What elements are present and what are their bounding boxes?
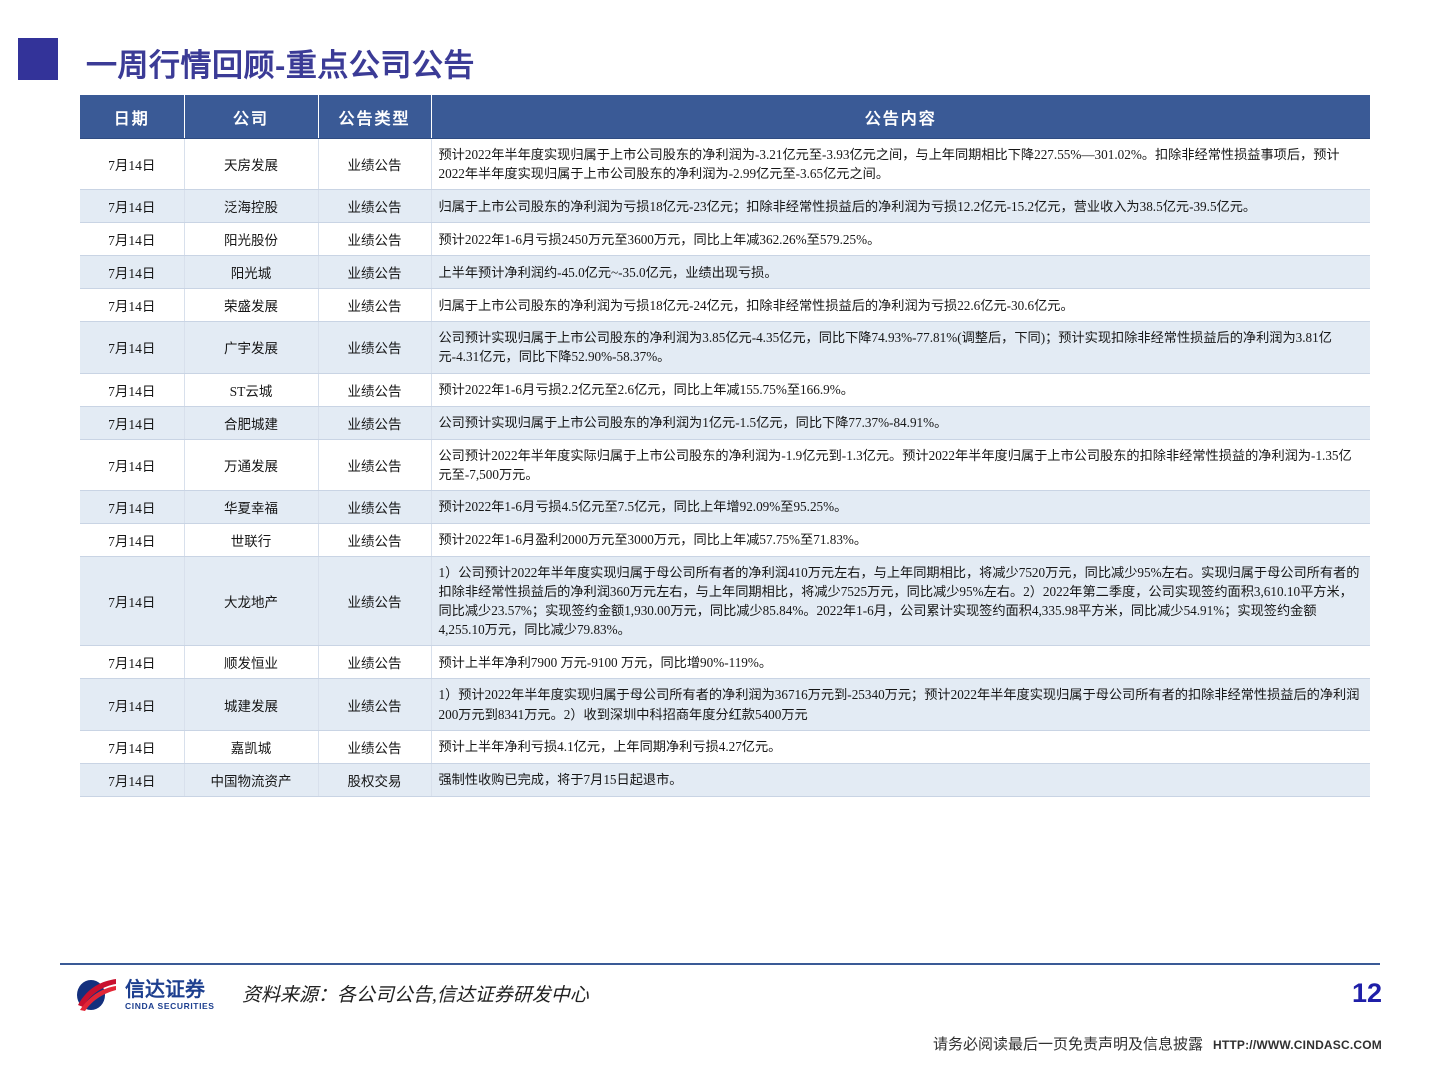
row-cell-content: 归属于上市公司股东的净利润为亏损18亿元-24亿元，扣除非经常性损益后的净利润为… <box>431 289 1370 322</box>
title-accent-square <box>18 38 58 80</box>
row-cell-type: 业绩公告 <box>318 490 431 523</box>
logo-text-en: CINDA SECURITIES <box>125 1002 215 1011</box>
table-row: 7月14日中国物流资产股权交易强制性收购已完成，将于7月15日起退市。 <box>80 763 1370 796</box>
row-cell-date: 7月14日 <box>80 490 184 523</box>
row-cell-type: 业绩公告 <box>318 373 431 406</box>
column-header-type: 公告类型 <box>318 95 431 139</box>
page-title: 一周行情回顾-重点公司公告 <box>86 40 475 85</box>
row-cell-date: 7月14日 <box>80 322 184 373</box>
table-row: 7月14日城建发展业绩公告1）预计2022年半年度实现归属于母公司所有者的净利润… <box>80 679 1370 730</box>
row-cell-date: 7月14日 <box>80 523 184 556</box>
row-cell-company: ST云城 <box>184 373 318 406</box>
row-cell-type: 业绩公告 <box>318 223 431 256</box>
source-note: 资料来源：各公司公告,信达证券研发中心 <box>242 980 589 1007</box>
footer-disclaimer: 请务必阅读最后一页免责声明及信息披露 HTTP://WWW.CINDASC.CO… <box>933 1033 1382 1054</box>
row-cell-type: 业绩公告 <box>318 406 431 439</box>
table-header: 日期 公司 公告类型 公告内容 <box>80 95 1370 139</box>
row-cell-date: 7月14日 <box>80 139 184 190</box>
row-cell-date: 7月14日 <box>80 373 184 406</box>
row-cell-company: 华夏幸福 <box>184 490 318 523</box>
row-cell-type: 业绩公告 <box>318 556 431 646</box>
row-cell-date: 7月14日 <box>80 406 184 439</box>
footer-divider <box>60 963 1380 965</box>
row-cell-company: 大龙地产 <box>184 556 318 646</box>
row-cell-date: 7月14日 <box>80 763 184 796</box>
column-header-content: 公告内容 <box>431 95 1370 139</box>
row-cell-type: 业绩公告 <box>318 730 431 763</box>
row-cell-content: 归属于上市公司股东的净利润为亏损18亿元-23亿元；扣除非经常性损益后的净利润为… <box>431 190 1370 223</box>
row-cell-date: 7月14日 <box>80 730 184 763</box>
row-cell-date: 7月14日 <box>80 646 184 679</box>
row-cell-content: 上半年预计净利润约-45.0亿元~-35.0亿元，业绩出现亏损。 <box>431 256 1370 289</box>
row-cell-company: 泛海控股 <box>184 190 318 223</box>
row-cell-type: 业绩公告 <box>318 322 431 373</box>
table-row: 7月14日阳光城业绩公告上半年预计净利润约-45.0亿元~-35.0亿元，业绩出… <box>80 256 1370 289</box>
row-cell-company: 阳光城 <box>184 256 318 289</box>
row-cell-content: 预计2022年1-6月亏损4.5亿元至7.5亿元，同比上年增92.09%至95.… <box>431 490 1370 523</box>
cinda-logo-icon <box>74 975 118 1015</box>
row-cell-date: 7月14日 <box>80 556 184 646</box>
row-cell-company: 荣盛发展 <box>184 289 318 322</box>
row-cell-type: 股权交易 <box>318 763 431 796</box>
row-cell-type: 业绩公告 <box>318 439 431 490</box>
row-cell-company: 广宇发展 <box>184 322 318 373</box>
table-row: 7月14日合肥城建业绩公告公司预计实现归属于上市公司股东的净利润为1亿元-1.5… <box>80 406 1370 439</box>
row-cell-company: 合肥城建 <box>184 406 318 439</box>
table-row: 7月14日阳光股份业绩公告预计2022年1-6月亏损2450万元至3600万元，… <box>80 223 1370 256</box>
row-cell-company: 顺发恒业 <box>184 646 318 679</box>
row-cell-company: 天房发展 <box>184 139 318 190</box>
row-cell-content: 公司预计实现归属于上市公司股东的净利润为1亿元-1.5亿元，同比下降77.37%… <box>431 406 1370 439</box>
row-cell-type: 业绩公告 <box>318 289 431 322</box>
row-cell-date: 7月14日 <box>80 223 184 256</box>
table-row: 7月14日嘉凯城业绩公告预计上半年净利亏损4.1亿元，上年同期净利亏损4.27亿… <box>80 730 1370 763</box>
table-row: 7月14日荣盛发展业绩公告归属于上市公司股东的净利润为亏损18亿元-24亿元，扣… <box>80 289 1370 322</box>
row-cell-content: 预计上半年净利亏损4.1亿元，上年同期净利亏损4.27亿元。 <box>431 730 1370 763</box>
row-cell-company: 嘉凯城 <box>184 730 318 763</box>
company-logo: 信达证券 CINDA SECURITIES <box>74 975 215 1015</box>
table-row: 7月14日泛海控股业绩公告归属于上市公司股东的净利润为亏损18亿元-23亿元；扣… <box>80 190 1370 223</box>
row-cell-date: 7月14日 <box>80 439 184 490</box>
row-cell-content: 公司预计2022年半年度实际归属于上市公司股东的净利润为-1.9亿元到-1.3亿… <box>431 439 1370 490</box>
row-cell-content: 预计2022年半年度实现归属于上市公司股东的净利润为-3.21亿元至-3.93亿… <box>431 139 1370 190</box>
row-cell-content: 预计2022年1-6月盈利2000万元至3000万元，同比上年减57.75%至7… <box>431 523 1370 556</box>
disclaimer-url[interactable]: HTTP://WWW.CINDASC.COM <box>1213 1038 1382 1052</box>
table-row: 7月14日ST云城业绩公告预计2022年1-6月亏损2.2亿元至2.6亿元，同比… <box>80 373 1370 406</box>
row-cell-company: 世联行 <box>184 523 318 556</box>
table-row: 7月14日顺发恒业业绩公告预计上半年净利7900 万元-9100 万元，同比增9… <box>80 646 1370 679</box>
table-body: 7月14日天房发展业绩公告预计2022年半年度实现归属于上市公司股东的净利润为-… <box>80 139 1370 797</box>
row-cell-date: 7月14日 <box>80 679 184 730</box>
row-cell-type: 业绩公告 <box>318 139 431 190</box>
table-row: 7月14日华夏幸福业绩公告预计2022年1-6月亏损4.5亿元至7.5亿元，同比… <box>80 490 1370 523</box>
logo-text-cn: 信达证券 <box>125 980 215 1000</box>
table-header-row: 日期 公司 公告类型 公告内容 <box>80 95 1370 139</box>
row-cell-content: 1）预计2022年半年度实现归属于母公司所有者的净利润为36716万元到-253… <box>431 679 1370 730</box>
row-cell-content: 强制性收购已完成，将于7月15日起退市。 <box>431 763 1370 796</box>
row-cell-company: 城建发展 <box>184 679 318 730</box>
row-cell-type: 业绩公告 <box>318 190 431 223</box>
row-cell-type: 业绩公告 <box>318 646 431 679</box>
table-row: 7月14日万通发展业绩公告公司预计2022年半年度实际归属于上市公司股东的净利润… <box>80 439 1370 490</box>
row-cell-company: 阳光股份 <box>184 223 318 256</box>
row-cell-content: 公司预计实现归属于上市公司股东的净利润为3.85亿元-4.35亿元，同比下降74… <box>431 322 1370 373</box>
table-row: 7月14日广宇发展业绩公告公司预计实现归属于上市公司股东的净利润为3.85亿元-… <box>80 322 1370 373</box>
table-row: 7月14日大龙地产业绩公告1）公司预计2022年半年度实现归属于母公司所有者的净… <box>80 556 1370 646</box>
row-cell-type: 业绩公告 <box>318 256 431 289</box>
row-cell-content: 预计2022年1-6月亏损2450万元至3600万元，同比上年减362.26%至… <box>431 223 1370 256</box>
row-cell-company: 万通发展 <box>184 439 318 490</box>
table-row: 7月14日世联行业绩公告预计2022年1-6月盈利2000万元至3000万元，同… <box>80 523 1370 556</box>
logo-wordmark: 信达证券 CINDA SECURITIES <box>125 980 215 1011</box>
row-cell-type: 业绩公告 <box>318 679 431 730</box>
column-header-company: 公司 <box>184 95 318 139</box>
disclaimer-text: 请务必阅读最后一页免责声明及信息披露 <box>933 1033 1203 1054</box>
row-cell-date: 7月14日 <box>80 256 184 289</box>
row-cell-date: 7月14日 <box>80 289 184 322</box>
slide-header: 一周行情回顾-重点公司公告 <box>0 0 1440 92</box>
column-header-date: 日期 <box>80 95 184 139</box>
row-cell-company: 中国物流资产 <box>184 763 318 796</box>
row-cell-content: 预计2022年1-6月亏损2.2亿元至2.6亿元，同比上年减155.75%至16… <box>431 373 1370 406</box>
page-number: 12 <box>1352 978 1382 1009</box>
announcements-table: 日期 公司 公告类型 公告内容 7月14日天房发展业绩公告预计2022年半年度实… <box>80 95 1370 797</box>
row-cell-date: 7月14日 <box>80 190 184 223</box>
row-cell-content: 1）公司预计2022年半年度实现归属于母公司所有者的净利润410万元左右，与上年… <box>431 556 1370 646</box>
table-row: 7月14日天房发展业绩公告预计2022年半年度实现归属于上市公司股东的净利润为-… <box>80 139 1370 190</box>
row-cell-content: 预计上半年净利7900 万元-9100 万元，同比增90%-119%。 <box>431 646 1370 679</box>
row-cell-type: 业绩公告 <box>318 523 431 556</box>
announcements-table-wrap: 日期 公司 公告类型 公告内容 7月14日天房发展业绩公告预计2022年半年度实… <box>80 95 1370 797</box>
